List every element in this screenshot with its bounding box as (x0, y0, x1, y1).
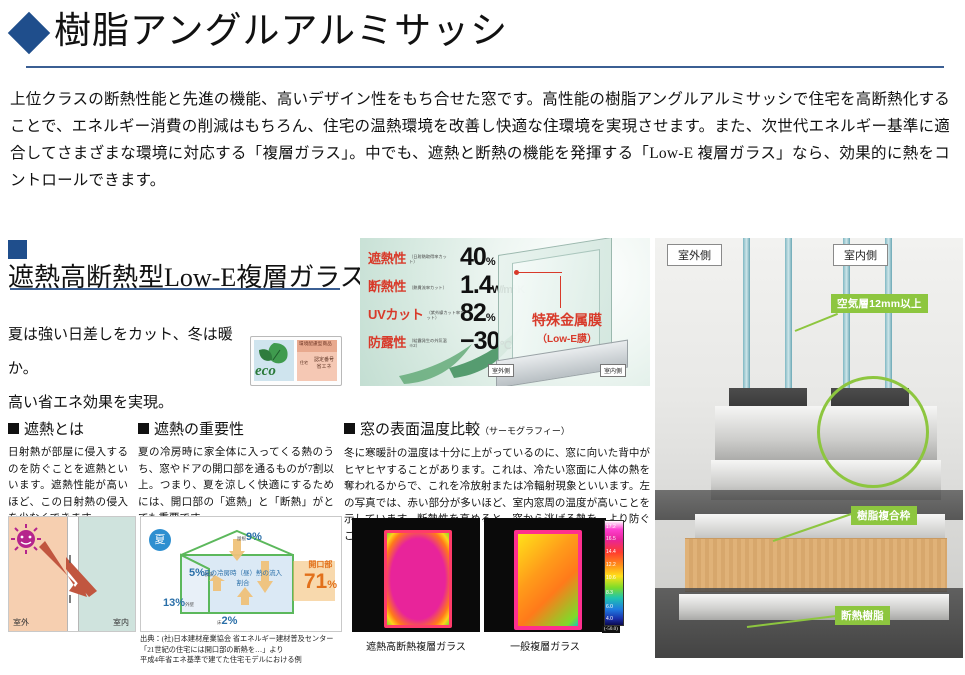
chart-value-wall: 13%外壁 (163, 593, 194, 611)
callout-composite-frame: 樹脂複合枠 (851, 506, 917, 525)
sun-and-ray-icon (9, 517, 135, 631)
sash-rail (679, 594, 949, 620)
scale-tick: 6.0 (606, 604, 613, 610)
chart-openings-label: 開口部 (304, 559, 337, 570)
section-lead-line1: 夏は強い日差しをカット、冬は暖か。 (8, 318, 258, 386)
spec-label: 防露性 (368, 335, 406, 350)
glass-tag-outside: 室外側 (488, 364, 514, 377)
diamond-bullet-icon (8, 12, 50, 54)
column-heading: 窓の表面温度比較（サーモグラフィー） (344, 420, 650, 441)
page-header: 樹脂アングルアルミサッシ (10, 4, 955, 66)
chart-source-citation: 出典：(社)日本建材産業協会 省エネルギー建材普及センター 「21世紀の住宅には… (140, 634, 350, 666)
season-badge: 夏 (149, 529, 171, 551)
scale-footer: (-50.0) (602, 626, 620, 633)
scale-tick: 10.6 (606, 575, 616, 581)
intro-paragraph: 上位クラスの断熱性能と先進の機能、高いデザイン性をもち合せた窓です。高性能の樹脂… (10, 86, 950, 194)
chart-value-roof: 屋根9% (237, 527, 262, 545)
scale-tick: 12.2 (606, 562, 616, 568)
spec-value: 82% (460, 299, 495, 328)
callout-air-layer: 空気層12mm以上 (831, 294, 928, 313)
film-callout-arrow (518, 272, 562, 273)
thermography-caption-left: 遮熱高断熱複層ガラス (352, 638, 480, 653)
column-importance-of-shading: 遮熱の重要性 夏の冷房時に家全体に入ってくる熱のうち、窓やドアの開口部を通るもの… (138, 420, 334, 528)
chart-value-floor: 床2% (217, 611, 237, 629)
callout-insulating-resin: 断熱樹脂 (835, 606, 890, 625)
spec-label: UVカット (368, 307, 424, 322)
eco-logo-right-value: 認定番号 省エネ (313, 357, 335, 371)
spec-note: （日射熱取得率カット） (409, 254, 449, 264)
page-title: 樹脂アングルアルミサッシ (54, 6, 508, 58)
column-what-is-shading: 遮熱とは 日射熱が部屋に侵入するのを防ぐことを遮熱といいます。遮熱性能が高いほど… (8, 420, 128, 528)
label-outdoor: 室外 (13, 617, 29, 628)
eco-logo-right-panel: 環境配慮型商品 住宅 認定番号 省エネ (297, 340, 337, 381)
bullet-square-icon (138, 423, 149, 434)
label-indoor: 室内 (113, 617, 129, 628)
eco-logo-right-label: 住宅 (300, 360, 308, 366)
thermography-caption-right: 一般複層ガラス (484, 638, 606, 653)
scale-tick: 8.3 (606, 590, 613, 596)
column-heading: 遮熱とは (8, 420, 128, 440)
eco-logo-right-banner: 環境配慮型商品 (297, 340, 337, 352)
section-heading: 遮熱高断熱型Low-E複層ガラス (8, 240, 353, 294)
wood-sill (685, 538, 947, 592)
callout-air-leader-line (795, 313, 838, 332)
spec-row: 遮熱性（日射熱取得率カット） 40% (368, 248, 449, 270)
highlight-circle-icon (817, 376, 929, 488)
photo-tag-inside: 室内側 (833, 244, 888, 266)
window-heat-region (514, 530, 582, 630)
glass-spec-panel: 遮熱性（日射熱取得率カット） 40% 断熱性（熱貫流率カット） 1.4W/m²·… (360, 238, 650, 386)
glass-tag-inside: 室内側 (600, 364, 626, 377)
spec-label: 断熱性 (368, 279, 406, 294)
section-divider (10, 288, 340, 290)
window-heat-region (384, 530, 452, 628)
shading-illustration: 室外 室内 (8, 516, 136, 632)
brochure-page: 樹脂アングルアルミサッシ 上位クラスの断熱性能と先進の機能、高いデザイン性をもち… (0, 0, 965, 675)
scale-tick: 17.2 (606, 524, 616, 530)
eco-logo-word: eco (255, 363, 276, 380)
header-divider (26, 66, 944, 68)
section-square-icon (8, 240, 27, 259)
spec-row: UVカット（紫外線カット率カット） 82% (368, 304, 467, 326)
spec-note: （熱貫流率カット） (409, 285, 449, 290)
thermography-image-low-e (352, 518, 480, 632)
sash-rail (715, 406, 825, 462)
scale-tick: 16.5 (606, 536, 616, 542)
column-heading: 遮熱の重要性 (138, 420, 334, 440)
bullet-square-icon (8, 423, 19, 434)
thermography-image-standard (484, 518, 606, 632)
chart-openings-value: 71% (304, 570, 337, 593)
spec-row: 防露性（結露発生の外気温 ※2） −30℃ (368, 332, 449, 354)
spec-label: 遮熱性 (368, 251, 406, 266)
chart-value-openings: 開口部 71% (304, 559, 337, 594)
eco-logo: eco 環境配慮型商品 住宅 認定番号 省エネ (250, 336, 342, 386)
chart-center-title: 夏の冷房時（昼）熱の流入割合 (203, 569, 283, 589)
scale-tick: 4.0 (606, 616, 613, 622)
column-heading-sub: （サーモグラフィー） (480, 426, 570, 436)
scale-tick: 14.4 (606, 549, 616, 555)
section-lead-line2: 高い省エネ効果を実現。 (8, 386, 258, 420)
film-callout-line (560, 276, 561, 308)
spec-note: （結露発生の外気温 ※2） (409, 338, 449, 348)
special-metal-film-callout: 特殊金属膜 （Low-E膜） (512, 310, 622, 345)
window-section-photo: 室外側 室内側 空気層12mm以上 樹脂複合枠 断熱樹脂 (655, 238, 963, 658)
section-lead: 夏は強い日差しをカット、冬は暖か。 高い省エネ効果を実現。 (8, 318, 258, 420)
spec-row: 断熱性（熱貫流率カット） 1.4W/m²·K (368, 276, 449, 298)
film-callout-line2: （Low-E膜） (512, 330, 622, 345)
film-callout-line1: 特殊金属膜 (512, 310, 622, 330)
bullet-square-icon (344, 423, 355, 434)
spec-value: 40% (460, 243, 495, 272)
heat-inflow-chart: 夏 屋根9% 5%換気 13%外壁 床2% 開口部 71% 夏の冷房時（昼）熱の… (140, 516, 342, 632)
photo-tag-outside: 室外側 (667, 244, 722, 266)
eco-logo-right-top-text: 環境配慮型商品 (299, 341, 332, 347)
